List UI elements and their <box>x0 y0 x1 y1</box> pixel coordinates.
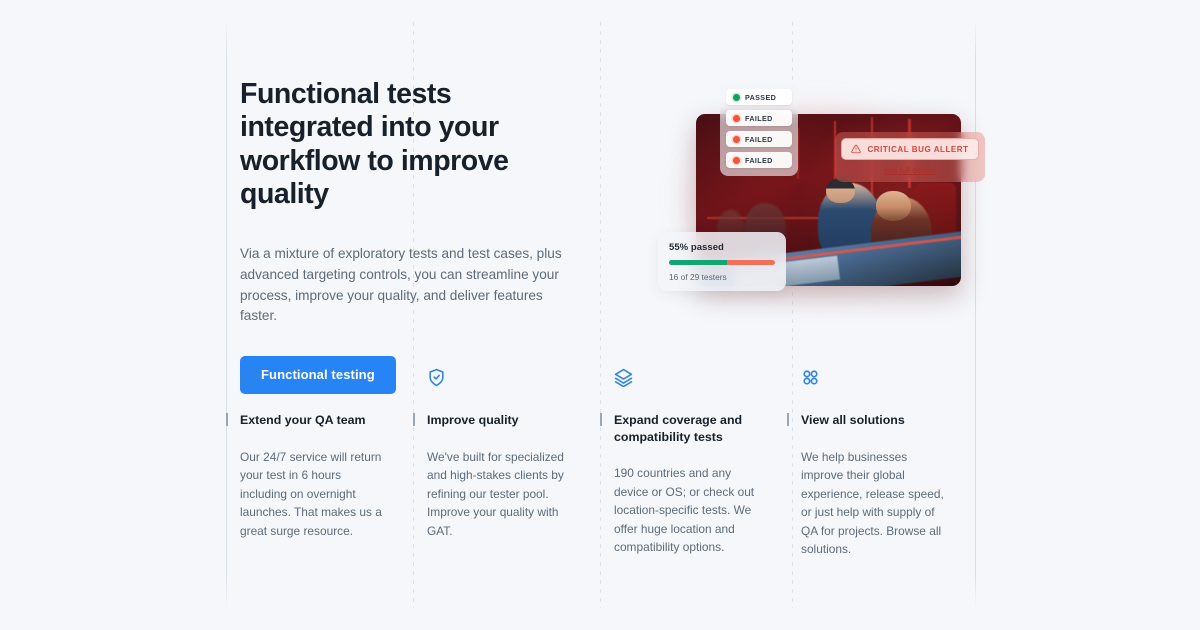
status-dot-failed-icon <box>733 157 740 164</box>
status-dot-passed-icon <box>733 94 740 101</box>
status-dot-failed-icon <box>733 136 740 143</box>
status-chip[interactable]: FAILED <box>726 131 792 147</box>
critical-bug-alert-pill[interactable]: CRITICAL BUG ALLERT <box>841 138 979 160</box>
status-chip[interactable]: PASSED <box>726 89 792 105</box>
hero-block: Functional tests integrated into your wo… <box>240 78 585 394</box>
critical-bug-alert-label: CRITICAL BUG ALLERT <box>867 145 968 154</box>
title-accent-bar <box>787 413 789 426</box>
grid-dots-icon <box>801 368 950 390</box>
status-chip-label: FAILED <box>745 135 773 144</box>
feature-title: Expand coverage and compatibility tests <box>614 412 763 445</box>
feature-body: Our 24/7 service will return your test i… <box>240 448 389 540</box>
pass-rate-bar-fill <box>669 260 727 265</box>
hero-description: Via a mixture of exploratory tests and t… <box>240 244 570 327</box>
feature-body: We've built for specialized and high-sta… <box>427 448 576 540</box>
status-chip[interactable]: FAILED <box>726 110 792 126</box>
status-dot-failed-icon <box>733 115 740 122</box>
pass-rate-title: 55% passed <box>669 242 775 253</box>
pass-rate-bar <box>669 260 775 265</box>
foreground-person-2-head <box>876 191 910 220</box>
feature-title: View all solutions <box>801 412 950 429</box>
feature-title: Improve quality <box>427 412 576 429</box>
feature-title: Extend your QA team <box>240 412 389 429</box>
page-title: Functional tests integrated into your wo… <box>240 78 585 211</box>
feature-body: 190 countries and any device or OS; or c… <box>614 464 763 556</box>
layers-stack-icon <box>614 368 763 390</box>
feature-title-text: Improve quality <box>427 413 519 427</box>
pass-rate-subtitle: 16 of 29 testers <box>669 272 775 282</box>
feature-columns: Extend your QA team Our 24/7 service wil… <box>226 368 976 558</box>
warning-triangle-icon <box>851 144 861 154</box>
feature-column-improve-quality: Improve quality We've built for speciali… <box>413 368 600 558</box>
pass-rate-card: 55% passed 16 of 29 testers <box>658 232 786 291</box>
test-status-card: PASSED FAILED FAILED FAILED <box>720 82 798 176</box>
feature-body: We help businesses improve their global … <box>801 448 950 559</box>
title-accent-bar <box>226 413 228 426</box>
feature-column-view-all-solutions: View all solutions We help businesses im… <box>787 368 974 558</box>
shield-check-icon <box>427 368 576 390</box>
status-chip-label: FAILED <box>745 114 773 123</box>
see-full-details-link[interactable]: see full details <box>841 166 979 175</box>
status-chip-label: PASSED <box>745 93 776 102</box>
hero-artwork: PASSED FAILED FAILED FAILED <box>658 70 988 320</box>
critical-bug-alert-card: CRITICAL BUG ALLERT see full details <box>835 132 985 182</box>
title-accent-bar <box>413 413 415 426</box>
status-chip[interactable]: FAILED <box>726 152 792 168</box>
title-accent-bar <box>600 413 602 426</box>
refresh-sync-icon <box>240 368 389 390</box>
feature-title-text: View all solutions <box>801 413 905 427</box>
status-chip-label: FAILED <box>745 156 773 165</box>
feature-column-extend-qa-team: Extend your QA team Our 24/7 service wil… <box>226 368 413 558</box>
feature-title-text: Extend your QA team <box>240 413 366 427</box>
feature-column-expand-coverage: Expand coverage and compatibility tests … <box>600 368 787 558</box>
feature-title-text: Expand coverage and compatibility tests <box>614 413 742 444</box>
